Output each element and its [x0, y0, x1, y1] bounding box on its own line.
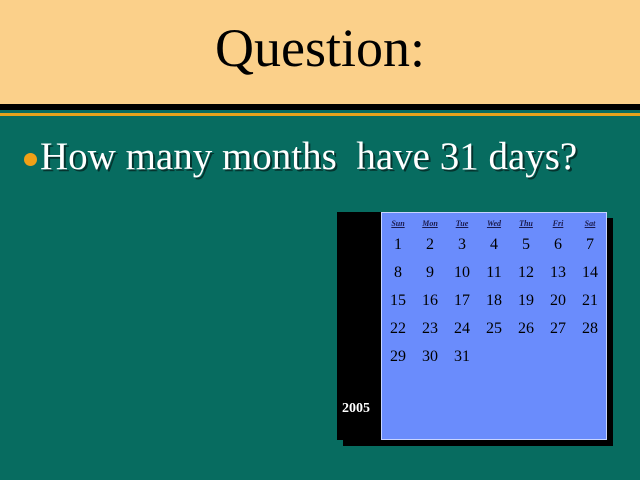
calendar-day-cell-empty	[542, 343, 574, 371]
calendar-day-cell: 5	[510, 231, 542, 259]
calendar-day-cell: 13	[542, 259, 574, 287]
calendar-week-row: 8 9 10 11 12 13 14	[382, 259, 606, 287]
calendar-panel: 2005 Sun Mon Tue Wed Thu Fri Sat	[337, 212, 607, 440]
calendar-day-cell: 28	[574, 315, 606, 343]
calendar-day-cell: 8	[382, 259, 414, 287]
calendar-day-header: Sat	[574, 213, 606, 231]
calendar-day-cell: 12	[510, 259, 542, 287]
calendar-day-header: Thu	[510, 213, 542, 231]
calendar-day-cell: 16	[414, 287, 446, 315]
calendar-sidebar: 2005	[337, 212, 381, 440]
page-title: Question:	[0, 16, 640, 80]
calendar-day-cell: 4	[478, 231, 510, 259]
calendar-day-cell: 2	[414, 231, 446, 259]
calendar-day-cell: 14	[574, 259, 606, 287]
bullet-list-item: How many months have 31 days?	[24, 134, 624, 180]
calendar-day-cell: 27	[542, 315, 574, 343]
calendar-day-header: Wed	[478, 213, 510, 231]
calendar-day-cell: 9	[414, 259, 446, 287]
title-band: Question:	[0, 0, 640, 104]
calendar-week-row: 15 16 17 18 19 20 21	[382, 287, 606, 315]
calendar-day-cell: 6	[542, 231, 574, 259]
calendar-table: Sun Mon Tue Wed Thu Fri Sat 1 2	[382, 213, 606, 371]
calendar-day-cell: 1	[382, 231, 414, 259]
calendar-graphic: 2005 Sun Mon Tue Wed Thu Fri Sat	[337, 212, 613, 446]
bullet-dot-icon	[24, 153, 37, 166]
calendar-day-cell-empty	[574, 343, 606, 371]
calendar-day-cell: 17	[446, 287, 478, 315]
calendar-day-cell: 31	[446, 343, 478, 371]
calendar-day-cell: 23	[414, 315, 446, 343]
calendar-week-row: 22 23 24 25 26 27 28	[382, 315, 606, 343]
calendar-day-cell: 22	[382, 315, 414, 343]
calendar-day-cell: 10	[446, 259, 478, 287]
calendar-day-header: Sun	[382, 213, 414, 231]
header-divider-gold	[0, 113, 640, 116]
calendar-day-cell: 29	[382, 343, 414, 371]
calendar-day-header: Fri	[542, 213, 574, 231]
bullet-item-label: How many months have 31 days?	[40, 134, 577, 180]
calendar-day-cell: 21	[574, 287, 606, 315]
calendar-day-cell: 25	[478, 315, 510, 343]
calendar-day-cell: 15	[382, 287, 414, 315]
calendar-day-header: Tue	[446, 213, 478, 231]
calendar-week-row: 1 2 3 4 5 6 7	[382, 231, 606, 259]
calendar-day-cell: 11	[478, 259, 510, 287]
calendar-day-cell-empty	[478, 343, 510, 371]
calendar-day-cell: 7	[574, 231, 606, 259]
calendar-grid: Sun Mon Tue Wed Thu Fri Sat 1 2	[381, 212, 607, 440]
calendar-week-row: 29 30 31	[382, 343, 606, 371]
calendar-day-cell: 30	[414, 343, 446, 371]
calendar-day-header: Mon	[414, 213, 446, 231]
calendar-year-label: 2005	[342, 401, 370, 417]
calendar-day-cell: 19	[510, 287, 542, 315]
calendar-day-cell: 3	[446, 231, 478, 259]
calendar-header-row: Sun Mon Tue Wed Thu Fri Sat	[382, 213, 606, 231]
calendar-day-cell: 18	[478, 287, 510, 315]
calendar-day-cell-empty	[510, 343, 542, 371]
calendar-day-cell: 26	[510, 315, 542, 343]
slide: Question: How many months have 31 days? …	[0, 0, 640, 480]
calendar-day-cell: 20	[542, 287, 574, 315]
calendar-day-cell: 24	[446, 315, 478, 343]
